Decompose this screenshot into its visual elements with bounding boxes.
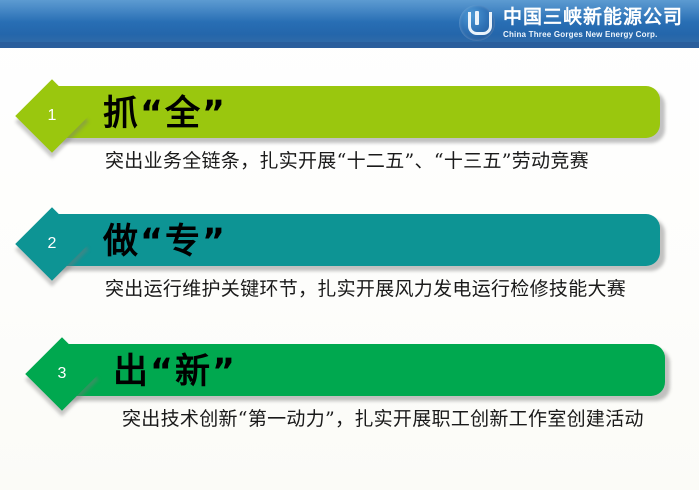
slide-canvas: 中国三峡新能源公司 China Three Gorges New Energy … [0, 0, 699, 490]
content-block-3: 3 出“新” 突出技术创新“第一动力”，扎实开展职工创新工作室创建活动 [10, 344, 682, 433]
logo-u-glyph [468, 12, 492, 35]
block-body-text-1: 突出业务全链条，扎实开展“十二五”、“十三五”劳动竞赛 [105, 148, 665, 175]
company-name-cn: 中国三峡新能源公司 [503, 8, 683, 27]
number-label-3: 3 [36, 348, 88, 400]
banner-title-3: 出“新” [113, 342, 237, 394]
banner-row-1: 1 抓“全” [0, 86, 665, 144]
block-body-text-2: 突出运行维护关键环节，扎实开展风力发电运行检修技能大赛 [105, 276, 665, 303]
content-block-1: 1 抓“全” 突出业务全链条，扎实开展“十二五”、“十三五”劳动竞赛 [0, 86, 665, 175]
slide-header-bar: 中国三峡新能源公司 China Three Gorges New Energy … [0, 0, 699, 48]
banner-row-3: 3 出“新” [10, 344, 682, 402]
company-name-en: China Three Gorges New Energy Corp. [503, 31, 683, 39]
block-body-text-3: 突出技术创新“第一动力”，扎实开展职工创新工作室创建活动 [122, 406, 682, 433]
company-name-group: 中国三峡新能源公司 China Three Gorges New Energy … [503, 8, 683, 39]
banner-row-2: 2 做“专” [0, 214, 665, 272]
content-block-2: 2 做“专” 突出运行维护关键环节，扎实开展风力发电运行检修技能大赛 [0, 214, 665, 303]
banner-title-2: 做“专” [103, 212, 227, 264]
three-gorges-logo-icon [459, 5, 495, 41]
company-logo: 中国三峡新能源公司 China Three Gorges New Energy … [459, 3, 683, 43]
logo-bar-glyph [475, 11, 479, 25]
number-label-2: 2 [26, 218, 78, 270]
banner-title-1: 抓“全” [103, 84, 227, 136]
number-label-1: 1 [26, 90, 78, 142]
